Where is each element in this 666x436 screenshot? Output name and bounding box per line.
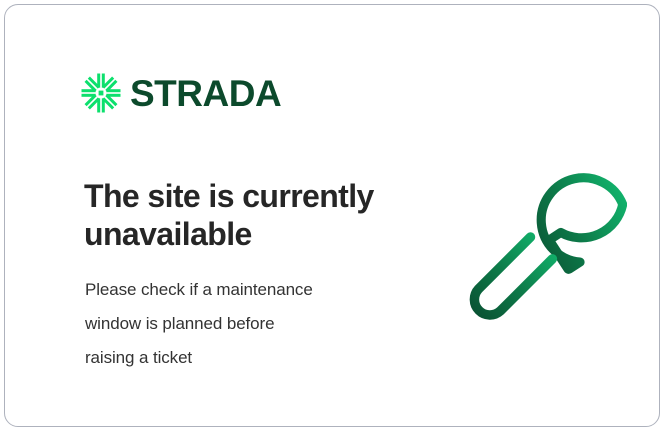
brand-logo: STRADA [81, 73, 281, 113]
strada-asterisk-icon [81, 73, 121, 113]
status-card: STRADA The site is currently unavailable… [4, 4, 660, 427]
description-line: Please check if a maintenance [85, 273, 395, 307]
error-page: STRADA The site is currently unavailable… [0, 0, 666, 436]
page-description: Please check if a maintenance window is … [85, 273, 395, 375]
brand-wordmark: STRADA [130, 75, 281, 112]
description-line: window is planned before [85, 307, 395, 341]
description-line: raising a ticket [85, 341, 395, 375]
page-title: The site is currently unavailable [84, 178, 414, 254]
wrench-icon [457, 157, 627, 327]
